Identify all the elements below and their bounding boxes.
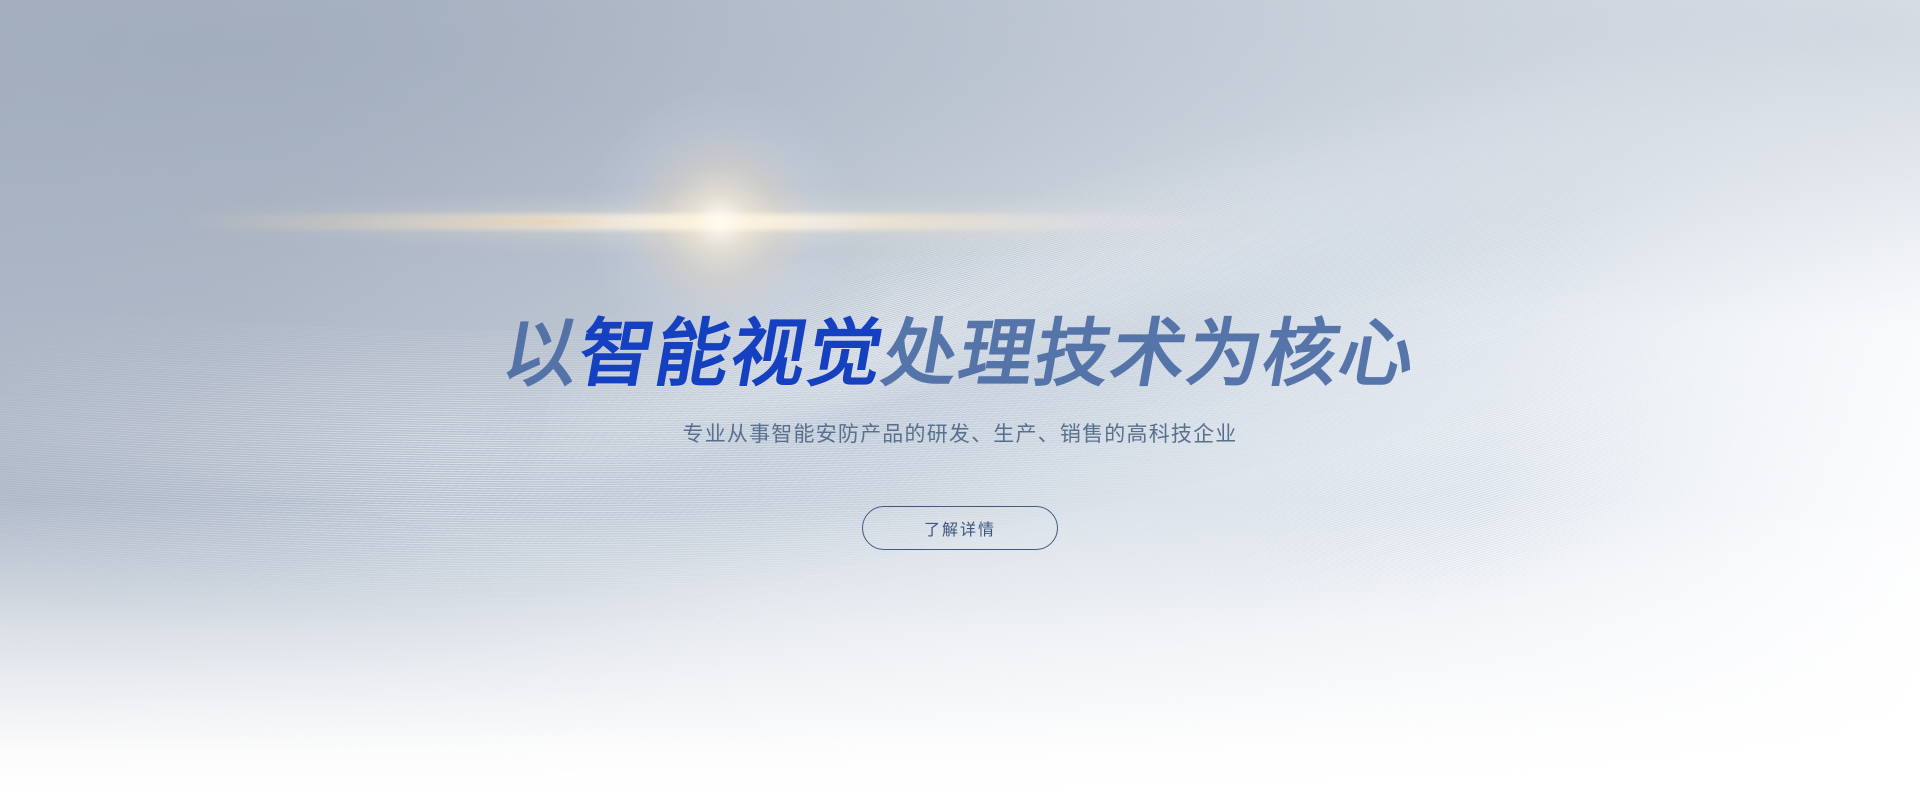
cta-container: 了解详情: [0, 506, 1920, 550]
headline-lead: 以: [497, 312, 588, 396]
headline-emphasis: 智能视觉: [573, 312, 892, 396]
headline-tail: 处理技术为核心: [877, 312, 1424, 396]
hero-content: 以智能视觉处理技术为核心 专业从事智能安防产品的研发、生产、销售的高科技企业 了…: [0, 0, 1920, 800]
page-title: 以智能视觉处理技术为核心: [0, 312, 1920, 396]
hero-banner: 以智能视觉处理技术为核心 专业从事智能安防产品的研发、生产、销售的高科技企业 了…: [0, 0, 1920, 800]
learn-more-button[interactable]: 了解详情: [862, 506, 1058, 550]
page-subtitle: 专业从事智能安防产品的研发、生产、销售的高科技企业: [0, 419, 1920, 449]
